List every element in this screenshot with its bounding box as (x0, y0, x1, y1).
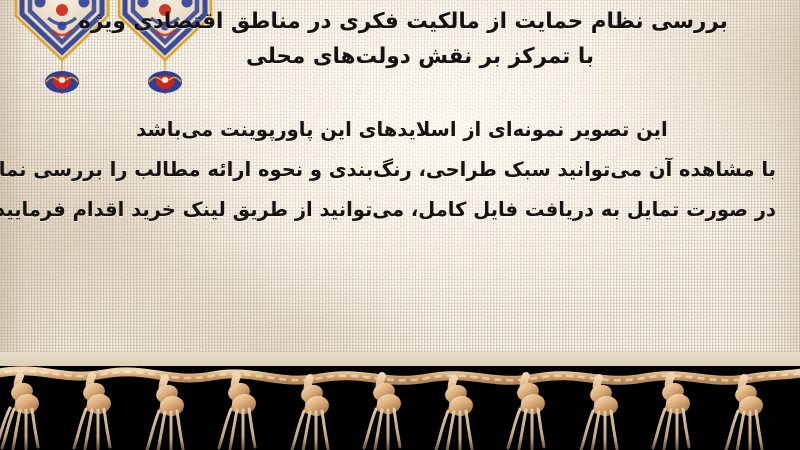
slide-canvas: بررسی نظام حمایت از مالکیت فکری در مناطق… (0, 0, 800, 450)
slide-title-line-2: با تمرکز بر نقش دولت‌های محلی (30, 39, 770, 74)
body-line-2: با مشاهده آن می‌توانید سبک طراحی، رنگ‌بن… (28, 150, 776, 190)
slide-body-text: این تصویر نمونه‌ای از اسلایدهای این پاور… (28, 110, 776, 230)
slide-title: بررسی نظام حمایت از مالکیت فکری در مناطق… (30, 4, 770, 74)
slide-title-line-1: بررسی نظام حمایت از مالکیت فکری در مناطق… (30, 4, 770, 39)
body-line-3: در صورت تمایل به دریافت فایل کامل، می‌تو… (28, 190, 776, 230)
body-line-1: این تصویر نمونه‌ای از اسلایدهای این پاور… (28, 110, 776, 150)
black-background-field (0, 366, 800, 450)
